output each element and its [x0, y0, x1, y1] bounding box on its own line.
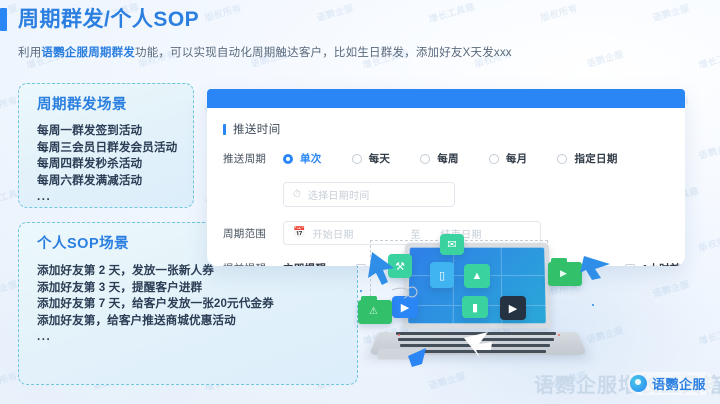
watermark-text: 语鹦企服: [651, 277, 691, 300]
watermark-text: 版权所有: [539, 1, 579, 24]
tools-icon: ⚒: [388, 254, 412, 278]
radio-icon[interactable]: [489, 154, 499, 164]
cursor-arrow-right-icon: [580, 256, 610, 280]
laptop-trackpad: [377, 349, 422, 360]
cycle-mass-send-card: 周期群发场景 每周一群发签到活动 每周三会员日群发会员活动 每周四群发秒杀活动 …: [18, 83, 194, 208]
radio-icon[interactable]: [420, 154, 430, 164]
checkbox-icon[interactable]: [625, 264, 635, 267]
video-folder-icon: ▶: [548, 262, 582, 286]
cycle-range-label: 周期范围: [223, 226, 283, 241]
list-item: ...: [37, 189, 193, 206]
subtitle-prefix: 利用: [18, 47, 41, 59]
push-cycle-option-specific-date[interactable]: 指定日期: [557, 151, 617, 166]
list-item: 每周六群发满减活动: [37, 173, 193, 190]
mail-icon: ✉: [440, 234, 464, 255]
datetime-placeholder: 选择日期时间: [308, 187, 370, 202]
watermark-text: 增长工具箱: [697, 46, 720, 72]
watermark-text: 语鹦企服: [315, 1, 355, 24]
option-label: 每天: [369, 151, 391, 166]
watermark-text: 版权所有: [697, 231, 720, 254]
accent-dot: [558, 334, 560, 336]
page-title: 周期群发/个人SOP: [18, 9, 199, 30]
list-item: 每周一群发签到活动: [37, 123, 193, 140]
radio-icon[interactable]: [352, 154, 362, 164]
watermark-text: 增长工具箱: [697, 322, 720, 348]
document-icon: ▯: [430, 262, 454, 288]
list-item: 添加好友第 7 天，给客户发放一张20元代金券: [37, 296, 337, 313]
watermark-text: 语鹦企服: [697, 139, 720, 162]
advance-reminder-label: 提前提醒: [223, 261, 283, 266]
brand-name: 语鹦企服: [652, 374, 706, 393]
watermark-text: 增长工具箱: [427, 0, 476, 25]
laptop-media-illustration: ⚒ ▯ ▲ ▶ ▮ ▶ ✉ ⚠ ▶: [352, 238, 620, 390]
list-item: ...: [37, 329, 337, 346]
list-item: 每周三会员日群发会员活动: [37, 140, 193, 157]
radio-icon[interactable]: [557, 154, 567, 164]
list-item: 添加好友第，给客户推送商城优惠活动: [37, 313, 337, 330]
page-title-group: 周期群发/个人SOP: [0, 8, 199, 31]
watermark-text: 语鹦企服: [651, 1, 691, 24]
section-accent-bar: [223, 124, 226, 135]
clock-icon: ⏱: [293, 190, 301, 200]
option-label: 单次: [300, 151, 322, 166]
list-item: 每周四群发秒杀活动: [37, 156, 193, 173]
watermark-text: 语鹦企服: [0, 277, 19, 300]
page-subtitle: 利用语鹦企服周期群发功能，可以实现自动化周期触达客户，比如生日群发，添加好友X天…: [18, 44, 512, 60]
option-label: 1小时前: [642, 261, 681, 266]
push-time-section-header: 推送时间: [223, 121, 669, 137]
brand-footer: 语鹦企服增长工具箱 语鹦企服: [534, 369, 714, 398]
chat-icon: ▮: [462, 296, 488, 318]
watermark-text: 版权所有: [0, 93, 19, 116]
play-icon: ▶: [392, 296, 418, 318]
push-cycle-option-single[interactable]: 单次: [283, 151, 322, 166]
option-label: 每周: [437, 151, 459, 166]
push-cycle-row: 推送周期 单次 每天 每周 每月: [223, 151, 669, 166]
push-cycle-option-weekly[interactable]: 每周: [420, 151, 459, 166]
warning-folder-icon: ⚠: [358, 300, 392, 324]
subtitle-suffix: 功能，可以实现自动化周期触达客户，比如生日群发，添加好友X天发xxx: [135, 47, 512, 59]
title-accent-bar: [0, 8, 7, 31]
reminder-option-immediate[interactable]: 立即提醒: [283, 261, 326, 266]
list-item: 添加好友第 3 天，提醒客户进群: [37, 280, 337, 297]
accent-dot: [398, 334, 400, 336]
section-title: 推送时间: [233, 121, 281, 137]
cycle-mass-send-card-list: 每周一群发签到活动 每周三会员日群发会员活动 每周四群发秒杀活动 每周六群发满减…: [37, 123, 193, 206]
radio-selected-icon[interactable]: [283, 154, 293, 164]
push-cycle-option-monthly[interactable]: 每月: [489, 151, 528, 166]
personal-sop-card-list: 添加好友第 2 天，发放一张新人券 添加好友第 3 天，提醒客户进群 添加好友第…: [37, 263, 357, 346]
parrot-circle-icon: [630, 375, 647, 392]
option-label: 每月: [506, 151, 528, 166]
image-icon: ▲: [464, 264, 490, 288]
push-cycle-label: 推送周期: [223, 151, 283, 166]
option-label: 立即提醒: [283, 261, 326, 266]
video-dark-icon: ▶: [500, 296, 526, 320]
cycle-mass-send-card-title: 周期群发场景: [37, 93, 193, 114]
panel-header-bar: [207, 89, 685, 108]
watermark-text: 版权所有: [203, 1, 243, 24]
reminder-option-1hour[interactable]: 1小时前: [625, 261, 681, 266]
accent-dot: [360, 290, 362, 292]
watermark-text: 语鹦企服: [585, 47, 625, 70]
brand-badge: 语鹦企服: [627, 372, 714, 395]
push-cycle-option-daily[interactable]: 每天: [352, 151, 391, 166]
accent-dot: [592, 304, 594, 306]
subtitle-highlight: 语鹦企服周期群发: [41, 47, 135, 59]
calendar-icon: 📅: [293, 228, 305, 238]
screenshot-root: 语鹦企服增长工具箱版权所有语鹦企服增长工具箱版权所有语鹦企服增长工具箱版权所有语…: [0, 0, 720, 404]
option-label: 指定日期: [574, 151, 617, 166]
datetime-input[interactable]: ⏱ 选择日期时间: [283, 182, 455, 207]
watermark-text: 版权所有: [0, 369, 19, 392]
